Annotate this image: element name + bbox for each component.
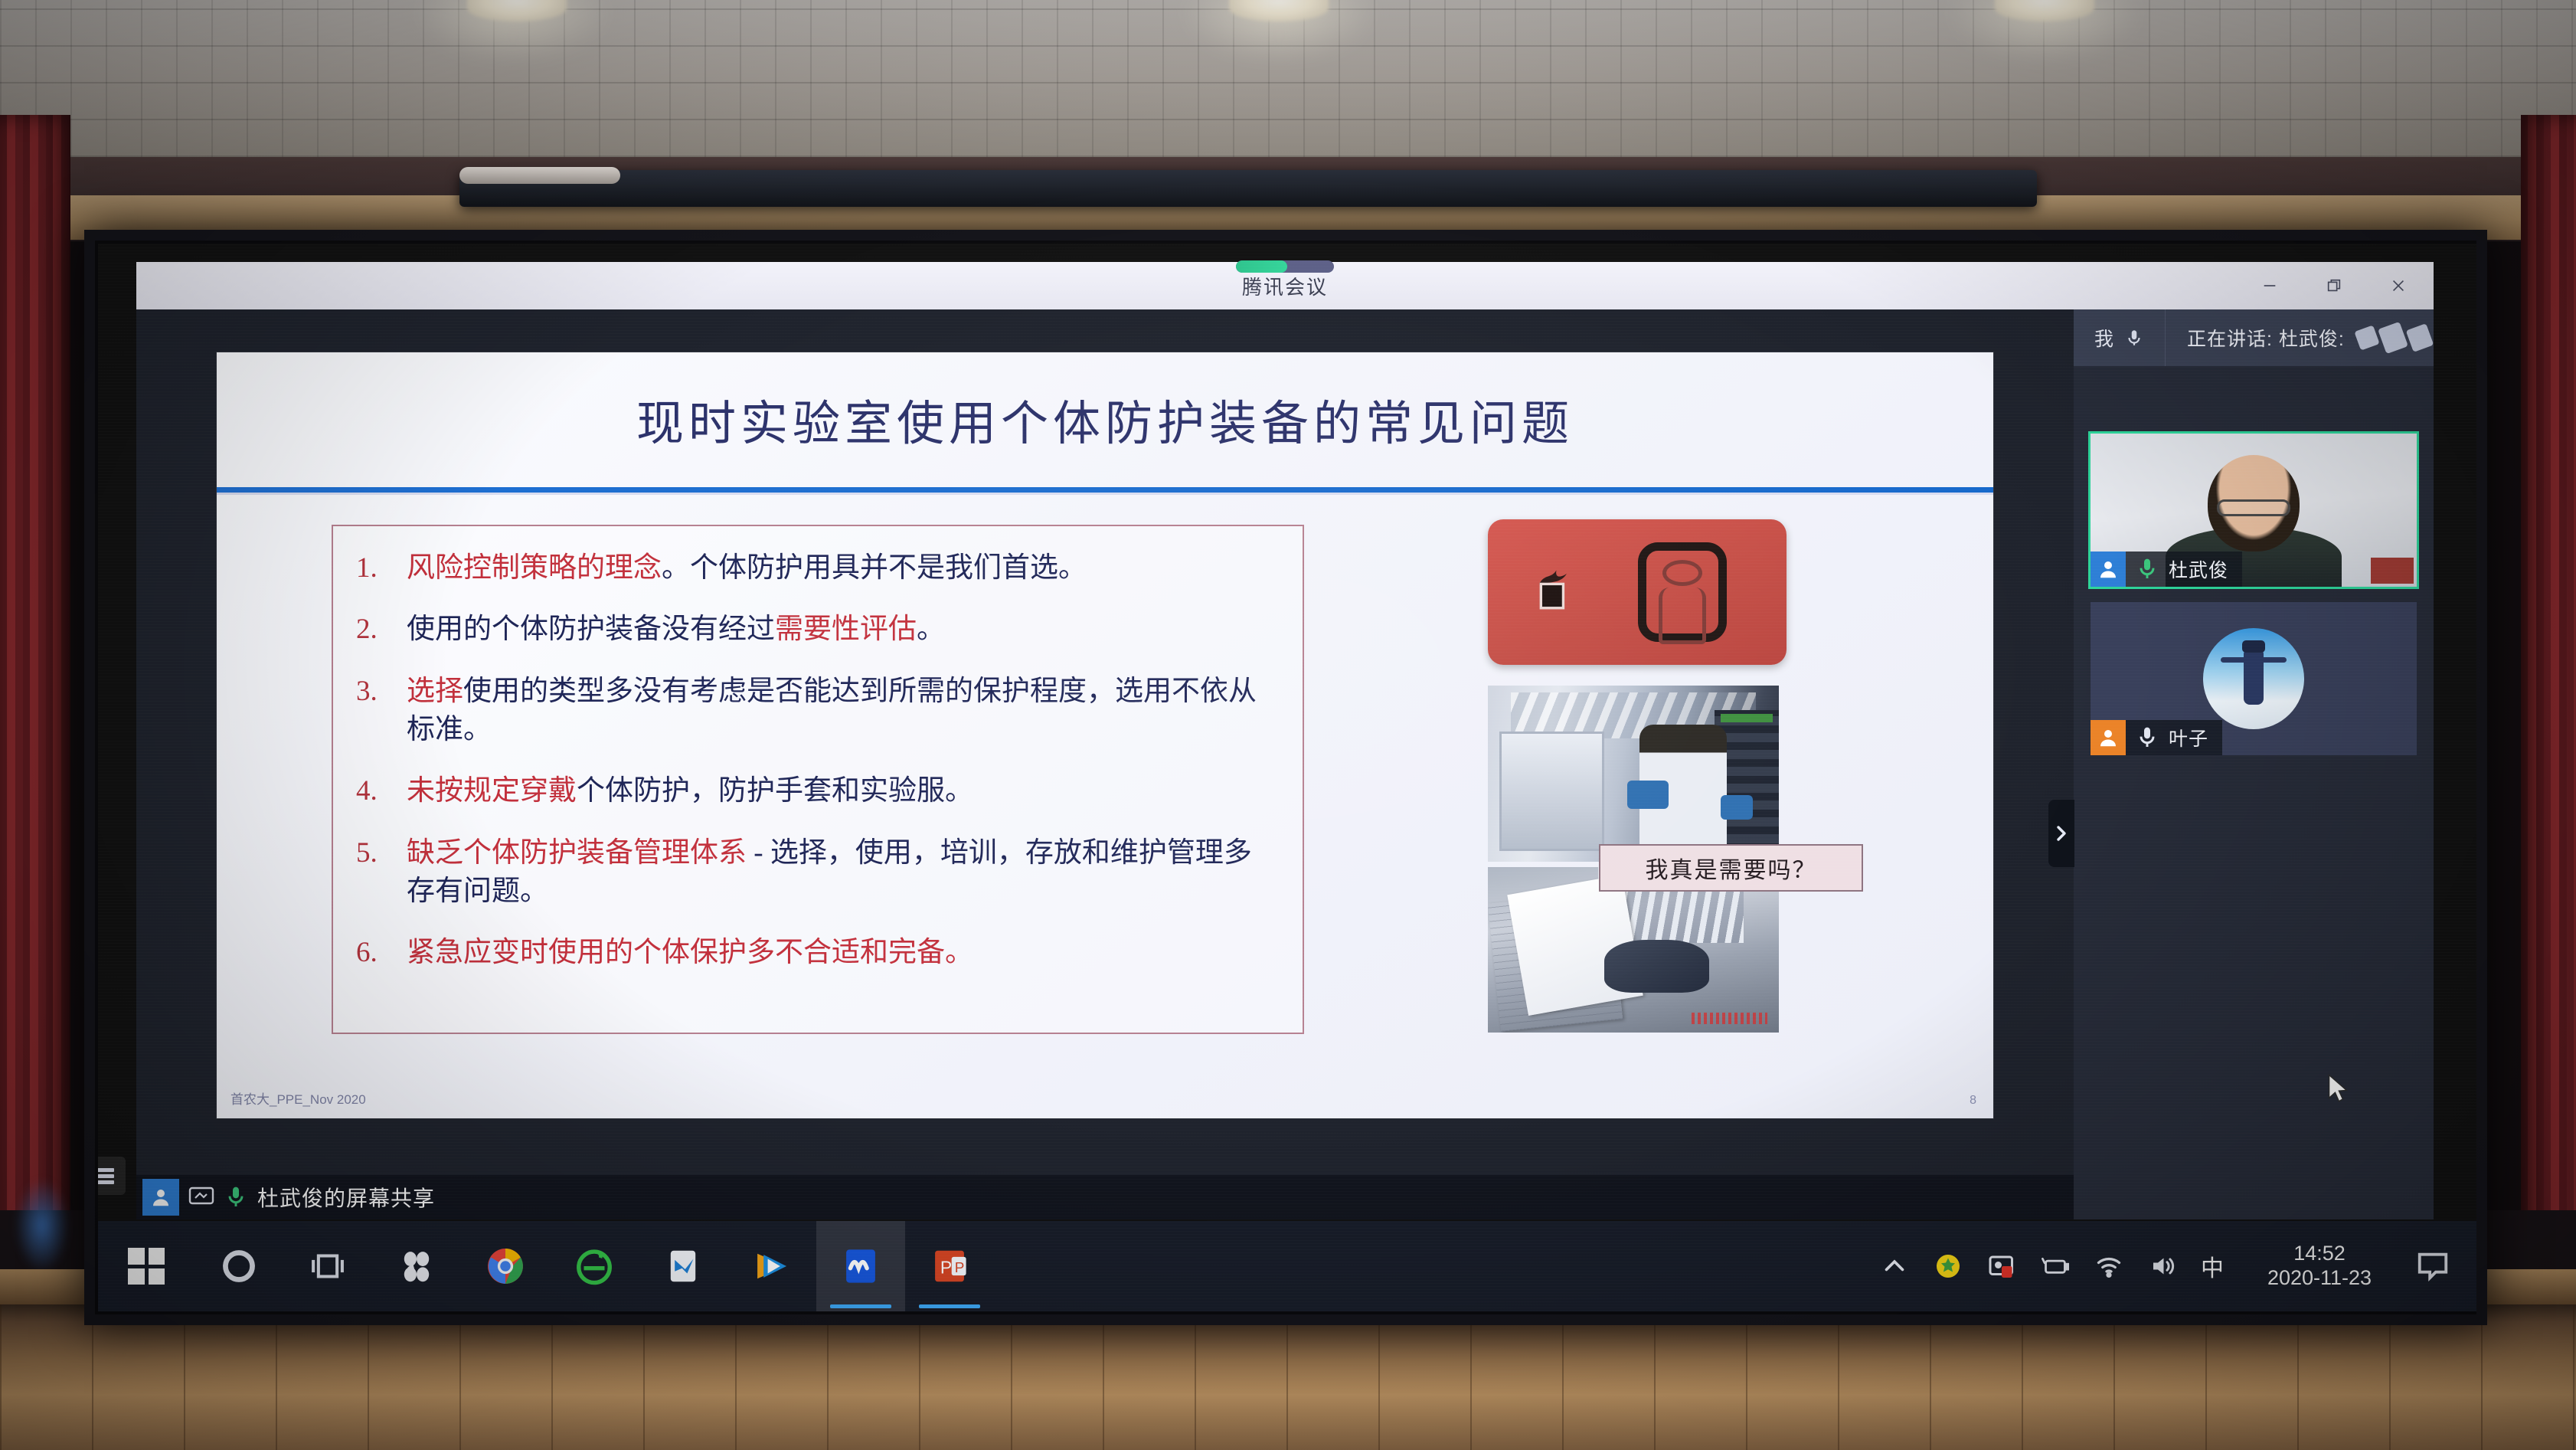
- list-item-number: 5.: [356, 834, 390, 912]
- system-tray: 中 14:52 2020-11-23: [1879, 1242, 2476, 1291]
- wifi-button[interactable]: [2094, 1251, 2124, 1281]
- lab-photo-fumehood: [1488, 686, 1779, 862]
- taskbar-items: P P: [195, 1221, 994, 1311]
- list-item: 2. 使用的个体防护装备没有经过需要性评估。: [356, 610, 1275, 649]
- active-speaker-bar: 正在讲话: 杜武俊:: [2166, 324, 2434, 352]
- list-item-rest: 使用的类型多没有考虑是否能达到所需的保护程度，选用不依从标准。: [407, 676, 1257, 745]
- chrome-icon: [485, 1245, 526, 1287]
- list-item-text: 未按规定穿戴个体防护，防护手套和实验服。: [407, 772, 973, 810]
- hazard-ppe-sign: [1488, 519, 1787, 665]
- audio-wave-icon: [2357, 325, 2431, 351]
- 360-browser-icon: [574, 1245, 615, 1287]
- list-item: 3. 选择使用的类型多没有考虑是否能达到所需的保护程度，选用不依从标准。: [356, 673, 1275, 750]
- windows-taskbar: P P: [98, 1221, 2476, 1311]
- tencent-meeting-window: 腾讯会议: [136, 262, 2434, 1219]
- taskbar-item-powerpoint[interactable]: P P: [905, 1221, 994, 1311]
- taskbar-item-tencent-meeting[interactable]: [816, 1221, 905, 1311]
- list-item-text: 选择使用的类型多没有考虑是否能达到所需的保护程度，选用不依从标准。: [407, 673, 1275, 750]
- list-item-number: 6.: [356, 934, 390, 972]
- minimize-button[interactable]: [2254, 270, 2285, 301]
- list-item-highlight: 选择: [407, 676, 463, 707]
- lab-photo-bench: [1488, 867, 1779, 1033]
- clock-time: 14:52: [2247, 1242, 2392, 1266]
- volume-button[interactable]: [2147, 1251, 2178, 1281]
- notification-center-button[interactable]: [2415, 1249, 2450, 1284]
- list-item: 4. 未按规定穿戴个体防护，防护手套和实验服。: [356, 772, 1275, 810]
- screenshot-icon: [1988, 1252, 2015, 1280]
- protective-suit-pictogram: [1638, 542, 1727, 642]
- slide-footer: 首农大_PPE_Nov 2020: [230, 1088, 366, 1108]
- svg-text:P: P: [940, 1257, 952, 1277]
- svg-text:P: P: [955, 1260, 965, 1276]
- self-indicator[interactable]: 我: [2074, 309, 2166, 366]
- conference-room-photo: 腾讯会议: [0, 0, 2576, 1450]
- taskbar-item-media-player[interactable]: [727, 1221, 816, 1311]
- list-item-rest: 。个体防护用具并不是我们首选。: [662, 552, 1087, 584]
- taskbar-clock[interactable]: 14:52 2020-11-23: [2247, 1242, 2392, 1291]
- shared-screen-area: 现时实验室使用个体防护装备的常见问题 1. 风险控制策略的理念。个体防护用具并不…: [136, 309, 2074, 1219]
- list-item-highlight: 未按规定穿戴: [407, 775, 577, 807]
- taskbar-item-google-chrome[interactable]: [461, 1221, 550, 1311]
- tile-nameplate: 叶子: [2091, 720, 2222, 755]
- notification-icon: [2415, 1249, 2450, 1284]
- ceiling: [0, 0, 2576, 157]
- list-item-highlight: 缺乏个体防护装备管理体系: [407, 837, 747, 869]
- taskbar-item-foxmail[interactable]: [639, 1221, 727, 1311]
- slide-title: 现时实验室使用个体防护装备的常见问题: [217, 385, 1993, 453]
- stage-curtain-left: [0, 115, 70, 1310]
- list-item-text: 风险控制策略的理念。个体防护用具并不是我们首选。: [407, 549, 1087, 588]
- list-item-pre: 使用的个体防护装备没有经过: [407, 614, 775, 645]
- person-icon: [149, 1186, 172, 1209]
- person-icon: [2097, 726, 2120, 749]
- chevron-right-icon: [2053, 822, 2070, 845]
- stage-curtain-right: [2521, 115, 2576, 1310]
- self-label: 我: [2094, 324, 2113, 352]
- security-shield-icon: [1934, 1252, 1962, 1280]
- taskbar-item-cortana[interactable]: [195, 1221, 283, 1311]
- window-controls: [2254, 262, 2414, 309]
- list-item-text: 紧急应变时使用的个体保护多不合适和完备。: [407, 934, 973, 972]
- close-icon: [2390, 277, 2407, 294]
- tile-nameplate: 杜武俊: [2091, 552, 2242, 587]
- participant-name: 叶子: [2169, 724, 2208, 751]
- windows-logo-icon: [128, 1248, 165, 1285]
- participant-badge-icon: [2091, 720, 2126, 755]
- screen-share-icon: [188, 1186, 214, 1209]
- window-titlebar: 腾讯会议: [136, 262, 2434, 309]
- clock-date: 2020-11-23: [2247, 1266, 2392, 1291]
- participant-tile-yezi[interactable]: 叶子: [2091, 602, 2417, 755]
- powerpoint-slide: 现时实验室使用个体防护装备的常见问题 1. 风险控制策略的理念。个体防护用具并不…: [217, 352, 1993, 1118]
- list-item-highlight: 需要性评估: [775, 614, 917, 645]
- participant-tile-duwujun[interactable]: 杜武俊: [2091, 434, 2417, 587]
- sogou-input-icon: [396, 1245, 437, 1287]
- wifi-icon: [2095, 1252, 2123, 1280]
- title-divider: [217, 487, 1993, 493]
- avatar: [2203, 628, 2304, 729]
- participants-rail: 我 正在讲话: 杜武俊:: [2074, 309, 2434, 1219]
- list-item-rest: 个体防护，防护手套和实验服。: [577, 775, 973, 807]
- projector-roller: [459, 167, 620, 184]
- participant-badge-icon: [142, 1179, 179, 1216]
- collapse-panel-button[interactable]: [2048, 800, 2074, 867]
- ime-indicator[interactable]: 中: [2201, 1249, 2224, 1283]
- list-item: 6. 紧急应变时使用的个体保护多不合适和完备。: [356, 934, 1275, 972]
- restore-button[interactable]: [2319, 270, 2349, 301]
- active-speaker-label: 正在讲话: 杜武俊:: [2187, 324, 2345, 352]
- list-item-rest: 。: [917, 614, 945, 645]
- volume-icon: [2149, 1252, 2176, 1280]
- list-item: 5. 缺乏个体防护装备管理体系 - 选择，使用，培训，存放和维护管理多存有问题。: [356, 834, 1275, 912]
- glasses: [2217, 499, 2290, 516]
- powerpoint-icon: P P: [929, 1245, 970, 1287]
- mic-on-icon: [2135, 557, 2159, 581]
- foxmail-icon: [662, 1245, 704, 1287]
- taskbar-item-sogou-input[interactable]: [372, 1221, 461, 1311]
- list-item-text: 缺乏个体防护装备管理体系 - 选择，使用，培训，存放和维护管理多存有问题。: [407, 834, 1275, 912]
- taskbar-item-task-view[interactable]: [283, 1221, 372, 1311]
- list-item-number: 3.: [356, 673, 390, 750]
- window-title: 腾讯会议: [1242, 272, 1328, 300]
- windows-desktop: 腾讯会议: [98, 244, 2476, 1311]
- person-icon: [2097, 558, 2120, 581]
- security-shield-button[interactable]: [1933, 1251, 1963, 1281]
- mic-icon: [2124, 326, 2144, 349]
- list-item: 1. 风险控制策略的理念。个体防护用具并不是我们首选。: [356, 549, 1275, 588]
- show-hidden-icons-button[interactable]: [1879, 1251, 1910, 1281]
- list-item-highlight: 风险控制策略的理念: [407, 552, 662, 584]
- battery-button[interactable]: [2040, 1251, 2071, 1281]
- list-item-number: 2.: [356, 610, 390, 649]
- participant-name: 杜武俊: [2169, 555, 2228, 583]
- list-item-number: 1.: [356, 549, 390, 588]
- screen-share-label: 杜武俊的屏幕共享: [257, 1182, 435, 1213]
- taskbar-item-360-browser[interactable]: [550, 1221, 639, 1311]
- tencent-meeting-icon: [840, 1245, 881, 1287]
- projector-housing: [459, 170, 2037, 207]
- cursor-arrow-icon: [2326, 1074, 2349, 1105]
- mic-on-icon: [224, 1185, 248, 1209]
- minimize-icon: [2261, 277, 2278, 294]
- list-item-highlight: 紧急应变时使用的个体保护多不合适和完备。: [407, 937, 973, 968]
- restore-icon: [2326, 277, 2342, 294]
- screenshot-tool-button[interactable]: [1986, 1251, 2017, 1281]
- stage-floor: [0, 1304, 2576, 1450]
- task-view-icon: [307, 1245, 348, 1287]
- ambient-light: [15, 1180, 69, 1272]
- rail-header: 我 正在讲话: 杜武俊:: [2074, 309, 2434, 366]
- start-button[interactable]: [98, 1221, 195, 1311]
- problem-list: 1. 风险控制策略的理念。个体防护用具并不是我们首选。 2. 使用的个体防护装备…: [332, 525, 1304, 1034]
- participant-tiles: 杜武俊: [2074, 366, 2434, 755]
- spill-flame-icon: [1535, 567, 1571, 610]
- mic-off-icon: [2135, 725, 2159, 750]
- chevron-up-icon: [1881, 1252, 1908, 1280]
- participant-badge-icon: [2091, 552, 2126, 587]
- media-player-icon: [751, 1245, 793, 1287]
- presentation-menu-icon[interactable]: [98, 1157, 126, 1195]
- list-item-text: 使用的个体防护装备没有经过需要性评估。: [407, 610, 945, 649]
- speech-bubble: 我真是需要吗？: [1599, 844, 1863, 892]
- loading-indicator: [1236, 260, 1334, 273]
- screen-share-status-bar: 杜武俊的屏幕共享: [136, 1175, 2074, 1219]
- close-button[interactable]: [2383, 270, 2414, 301]
- cortana-icon: [218, 1245, 260, 1287]
- battery-icon: [2042, 1252, 2069, 1280]
- slide-page-number: 8: [1970, 1094, 1976, 1108]
- list-item-number: 4.: [356, 772, 390, 810]
